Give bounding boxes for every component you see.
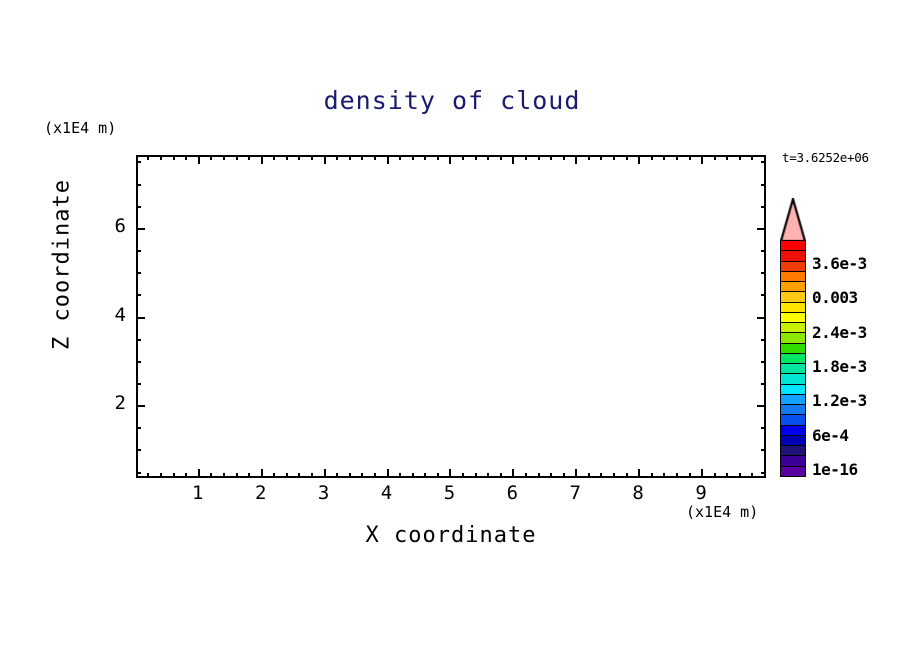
- x-minor-tick-top: [399, 155, 401, 160]
- x-tick-label: 8: [618, 482, 658, 504]
- x-minor-tick: [399, 473, 401, 478]
- x-minor-tick: [361, 473, 363, 478]
- x-minor-tick-top: [147, 155, 149, 160]
- x-major-tick: [387, 469, 389, 478]
- x-minor-tick: [424, 473, 426, 478]
- x-axis-title: X coordinate: [136, 523, 766, 548]
- y-minor-tick-right: [761, 472, 766, 474]
- x-minor-tick-top: [651, 155, 653, 160]
- x-minor-tick: [726, 473, 728, 478]
- x-major-tick: [701, 469, 703, 478]
- x-tick-label: 6: [492, 482, 532, 504]
- x-minor-tick: [475, 473, 477, 478]
- x-minor-tick: [336, 473, 338, 478]
- x-minor-tick: [185, 473, 187, 478]
- x-minor-tick-top: [462, 155, 464, 160]
- x-minor-tick-top: [173, 155, 175, 160]
- x-minor-tick-top: [525, 155, 527, 160]
- colorbar-label: 1e-16: [812, 460, 858, 479]
- y-minor-tick: [136, 339, 141, 341]
- y-minor-tick: [136, 294, 141, 296]
- x-minor-tick-top: [412, 155, 414, 160]
- time-annotation: t=3.6252e+06: [782, 150, 869, 165]
- x-minor-tick: [600, 473, 602, 478]
- y-minor-tick: [136, 161, 141, 163]
- x-minor-tick: [751, 473, 753, 478]
- y-minor-tick-right: [761, 449, 766, 451]
- y-tick-label: 4: [86, 304, 126, 326]
- x-minor-tick-top: [160, 155, 162, 160]
- colorbar-label: 1.2e-3: [812, 391, 867, 410]
- x-minor-tick-top: [475, 155, 477, 160]
- x-minor-tick-top: [751, 155, 753, 160]
- x-minor-tick: [248, 473, 250, 478]
- colorbar-label: 2.4e-3: [812, 323, 867, 342]
- x-tick-label: 2: [241, 482, 281, 504]
- y-minor-tick-right: [761, 161, 766, 163]
- x-minor-tick-top: [714, 155, 716, 160]
- x-minor-tick: [147, 473, 149, 478]
- x-major-tick-top: [198, 155, 200, 164]
- x-minor-tick-top: [273, 155, 275, 160]
- x-minor-tick: [663, 473, 665, 478]
- y-axis-unit-label: (x1E4 m): [44, 119, 116, 137]
- x-minor-tick-top: [538, 155, 540, 160]
- x-minor-tick-top: [185, 155, 187, 160]
- x-minor-tick: [298, 473, 300, 478]
- y-major-tick-right: [757, 405, 766, 407]
- x-major-tick-top: [261, 155, 263, 164]
- x-minor-tick-top: [626, 155, 628, 160]
- x-minor-tick: [236, 473, 238, 478]
- y-major-tick-right: [757, 228, 766, 230]
- x-minor-tick: [538, 473, 540, 478]
- y-major-tick: [136, 317, 145, 319]
- y-minor-tick: [136, 272, 141, 274]
- x-minor-tick: [525, 473, 527, 478]
- x-minor-tick-top: [210, 155, 212, 160]
- x-minor-tick: [500, 473, 502, 478]
- x-minor-tick: [714, 473, 716, 478]
- y-minor-tick: [136, 184, 141, 186]
- x-minor-tick: [462, 473, 464, 478]
- y-major-tick: [136, 405, 145, 407]
- x-minor-tick-top: [676, 155, 678, 160]
- x-tick-label: 9: [681, 482, 721, 504]
- x-major-tick-top: [638, 155, 640, 164]
- x-major-tick-top: [701, 155, 703, 164]
- x-minor-tick: [286, 473, 288, 478]
- x-minor-tick: [676, 473, 678, 478]
- colorbar-swatch: [780, 466, 806, 478]
- colorbar: [780, 240, 806, 476]
- x-minor-tick-top: [739, 155, 741, 160]
- y-tick-label: 2: [86, 392, 126, 414]
- x-major-tick: [575, 469, 577, 478]
- x-minor-tick-top: [361, 155, 363, 160]
- y-minor-tick-right: [761, 250, 766, 252]
- x-minor-tick-top: [487, 155, 489, 160]
- x-minor-tick: [273, 473, 275, 478]
- x-minor-tick: [374, 473, 376, 478]
- x-minor-tick-top: [437, 155, 439, 160]
- colorbar-label: 1.8e-3: [812, 357, 867, 376]
- x-minor-tick-top: [563, 155, 565, 160]
- y-minor-tick-right: [761, 383, 766, 385]
- x-minor-tick-top: [424, 155, 426, 160]
- x-major-tick-top: [324, 155, 326, 164]
- colorbar-label: 0.003: [812, 288, 858, 307]
- x-tick-label: 4: [367, 482, 407, 504]
- x-minor-tick-top: [588, 155, 590, 160]
- x-minor-tick: [487, 473, 489, 478]
- x-minor-tick: [160, 473, 162, 478]
- x-tick-label: 7: [555, 482, 595, 504]
- x-minor-tick-top: [689, 155, 691, 160]
- x-minor-tick-top: [336, 155, 338, 160]
- y-axis-title: Z coordinate: [50, 170, 75, 360]
- x-minor-tick: [223, 473, 225, 478]
- x-minor-tick: [563, 473, 565, 478]
- x-minor-tick-top: [248, 155, 250, 160]
- x-minor-tick: [689, 473, 691, 478]
- x-minor-tick-top: [236, 155, 238, 160]
- x-minor-tick: [588, 473, 590, 478]
- y-major-tick-right: [757, 317, 766, 319]
- x-minor-tick-top: [726, 155, 728, 160]
- colorbar-label: 6e-4: [812, 426, 849, 445]
- x-tick-label: 3: [304, 482, 344, 504]
- x-major-tick: [638, 469, 640, 478]
- x-minor-tick-top: [374, 155, 376, 160]
- x-major-tick-top: [512, 155, 514, 164]
- y-minor-tick: [136, 472, 141, 474]
- y-minor-tick: [136, 427, 141, 429]
- x-major-tick-top: [449, 155, 451, 164]
- x-minor-tick-top: [349, 155, 351, 160]
- y-minor-tick: [136, 449, 141, 451]
- x-major-tick: [512, 469, 514, 478]
- x-minor-tick: [437, 473, 439, 478]
- x-minor-tick: [626, 473, 628, 478]
- y-minor-tick-right: [761, 339, 766, 341]
- x-minor-tick-top: [311, 155, 313, 160]
- x-minor-tick: [173, 473, 175, 478]
- y-minor-tick: [136, 361, 141, 363]
- y-minor-tick-right: [761, 184, 766, 186]
- x-minor-tick-top: [600, 155, 602, 160]
- x-major-tick: [198, 469, 200, 478]
- x-minor-tick-top: [550, 155, 552, 160]
- x-minor-tick-top: [286, 155, 288, 160]
- x-minor-tick: [739, 473, 741, 478]
- y-minor-tick-right: [761, 294, 766, 296]
- x-tick-label: 1: [178, 482, 218, 504]
- colorbar-label: 3.6e-3: [812, 254, 867, 273]
- x-minor-tick: [550, 473, 552, 478]
- x-minor-tick: [210, 473, 212, 478]
- x-minor-tick: [311, 473, 313, 478]
- y-minor-tick-right: [761, 206, 766, 208]
- y-minor-tick: [136, 206, 141, 208]
- page-title: density of cloud: [0, 86, 904, 115]
- axis-tick-layer: [136, 155, 766, 478]
- x-minor-tick-top: [613, 155, 615, 160]
- x-axis-unit-label: (x1E4 m): [686, 503, 758, 521]
- y-minor-tick-right: [761, 427, 766, 429]
- x-major-tick: [449, 469, 451, 478]
- x-tick-label: 5: [429, 482, 469, 504]
- x-major-tick: [261, 469, 263, 478]
- colorbar-arrow-icon: [780, 198, 806, 242]
- x-minor-tick: [651, 473, 653, 478]
- x-minor-tick: [412, 473, 414, 478]
- y-major-tick: [136, 228, 145, 230]
- x-minor-tick-top: [298, 155, 300, 160]
- y-minor-tick-right: [761, 361, 766, 363]
- x-minor-tick: [349, 473, 351, 478]
- y-minor-tick: [136, 383, 141, 385]
- x-major-tick-top: [387, 155, 389, 164]
- x-minor-tick: [613, 473, 615, 478]
- y-minor-tick: [136, 250, 141, 252]
- x-major-tick-top: [575, 155, 577, 164]
- x-minor-tick-top: [500, 155, 502, 160]
- x-minor-tick-top: [223, 155, 225, 160]
- y-minor-tick-right: [761, 272, 766, 274]
- x-major-tick: [324, 469, 326, 478]
- x-minor-tick-top: [663, 155, 665, 160]
- y-tick-label: 6: [86, 215, 126, 237]
